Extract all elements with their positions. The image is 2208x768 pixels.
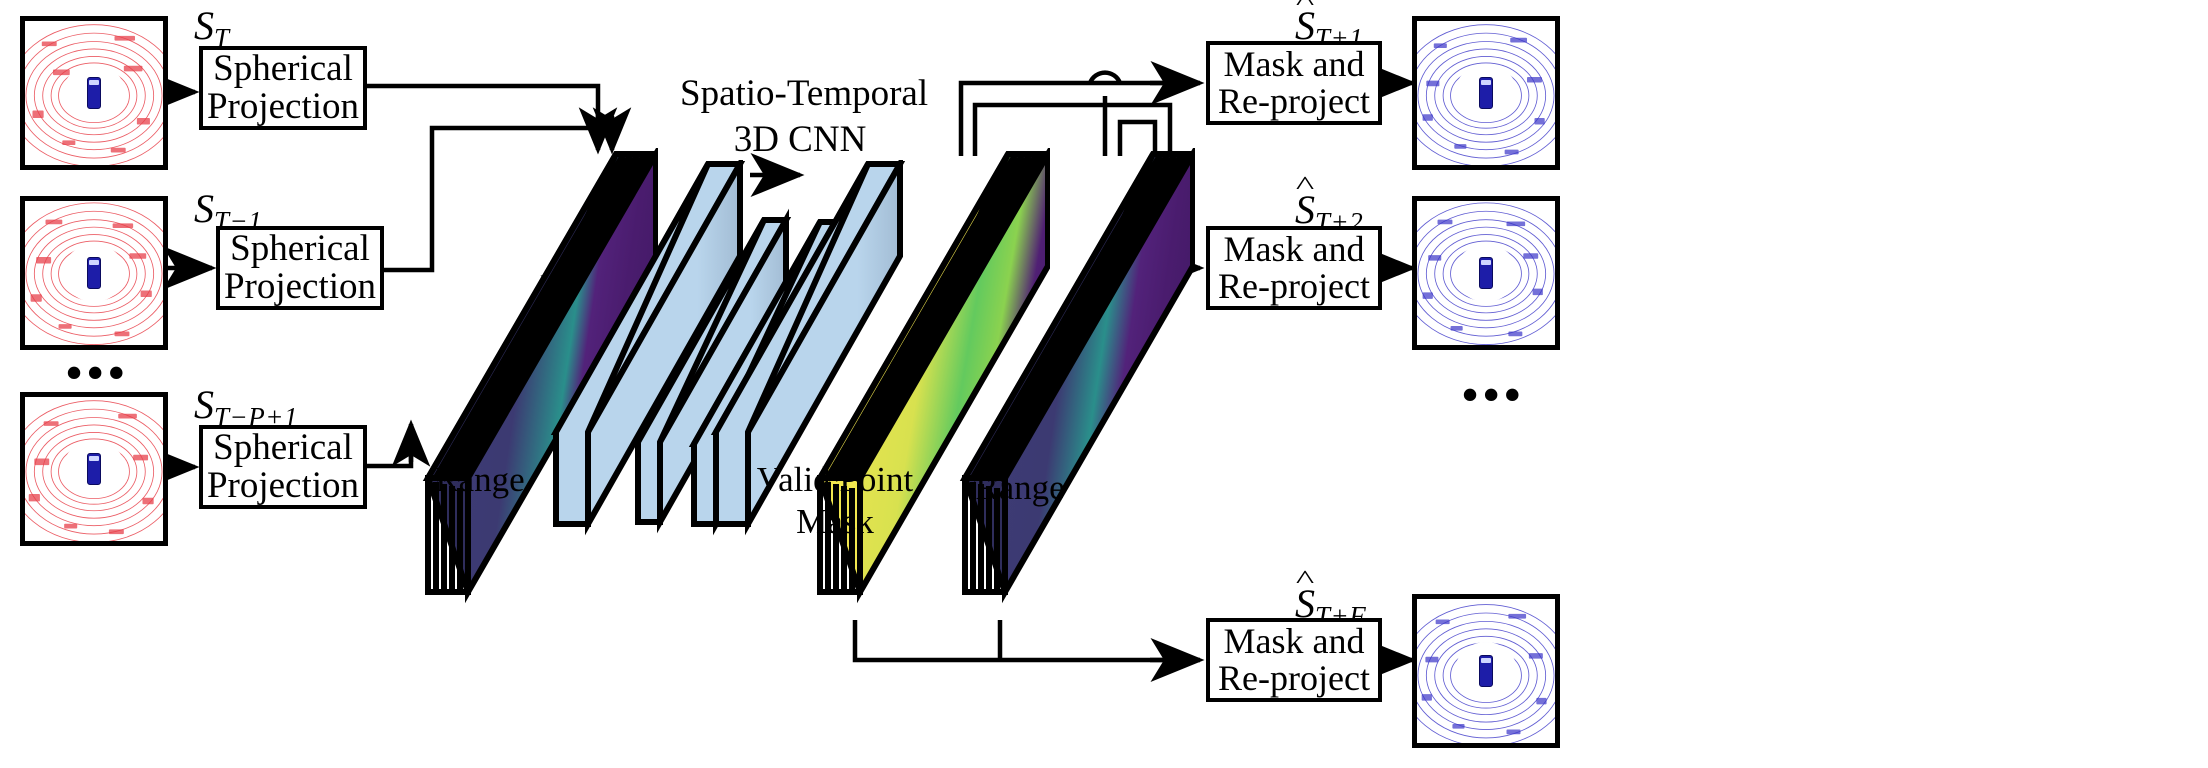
spherical-projection-box-1[interactable]: Spherical Projection [216,226,384,310]
ego-vehicle-icon [87,77,101,109]
mask-reproject-box-0[interactable]: Mask and Re-project [1206,41,1382,125]
box-line-2: Re-project [1218,83,1370,120]
box-line-2: Projection [207,88,359,126]
wire-mask-to-out0 [961,83,1196,156]
box-line-1: Mask and [1224,46,1365,83]
input-ellipsis: ••• [66,350,129,396]
output-pointcloud-2 [1412,594,1560,748]
input-pointcloud-0 [20,16,168,170]
tensor-output-range-svg [935,148,1195,628]
tensor-output-range [935,148,1195,628]
label-symbol-S: S [194,3,214,48]
box-line-1: Mask and [1224,623,1365,660]
box-line-2: Re-project [1218,268,1370,305]
cnn-title-line1: Spatio-Temporal [680,72,920,115]
box-line-2: Re-project [1218,660,1370,697]
box-line-2: Projection [207,467,359,505]
ego-vehicle-icon [87,453,101,485]
label-symbol-S: S [194,382,214,427]
output-pointcloud-1 [1412,196,1560,350]
box-line-1: Spherical [230,230,370,268]
mask-reproject-box-1[interactable]: Mask and Re-project [1206,226,1382,310]
output-ellipsis: ••• [1462,372,1525,418]
ego-vehicle-icon [1479,257,1493,289]
box-line-2: Projection [224,268,376,306]
output-pointcloud-0 [1412,16,1560,170]
caption-range-right: Range [910,468,1130,508]
ego-vehicle-icon [1479,77,1493,109]
caption-range-left: Range [370,460,590,500]
input-pointcloud-1 [20,196,168,350]
box-line-1: Spherical [213,429,353,467]
ego-vehicle-icon [1479,655,1493,687]
caption-valid-point-mask-line2: Mask [715,502,955,542]
cnn-title-line2: 3D CNN [680,118,920,161]
label-symbol-S: S [194,186,214,231]
figure-canvas: ••• ST ST−1 ST−P+1 Spherical Projection … [0,0,2208,768]
spherical-projection-box-2[interactable]: Spherical Projection [199,425,367,509]
wire-sp0-to-tensor [366,86,598,132]
ego-vehicle-icon [87,257,101,289]
box-line-1: Spherical [213,50,353,88]
spherical-projection-box-0[interactable]: Spherical Projection [199,46,367,130]
mask-reproject-box-2[interactable]: Mask and Re-project [1206,618,1382,702]
input-pointcloud-2 [20,392,168,546]
box-line-1: Mask and [1224,231,1365,268]
